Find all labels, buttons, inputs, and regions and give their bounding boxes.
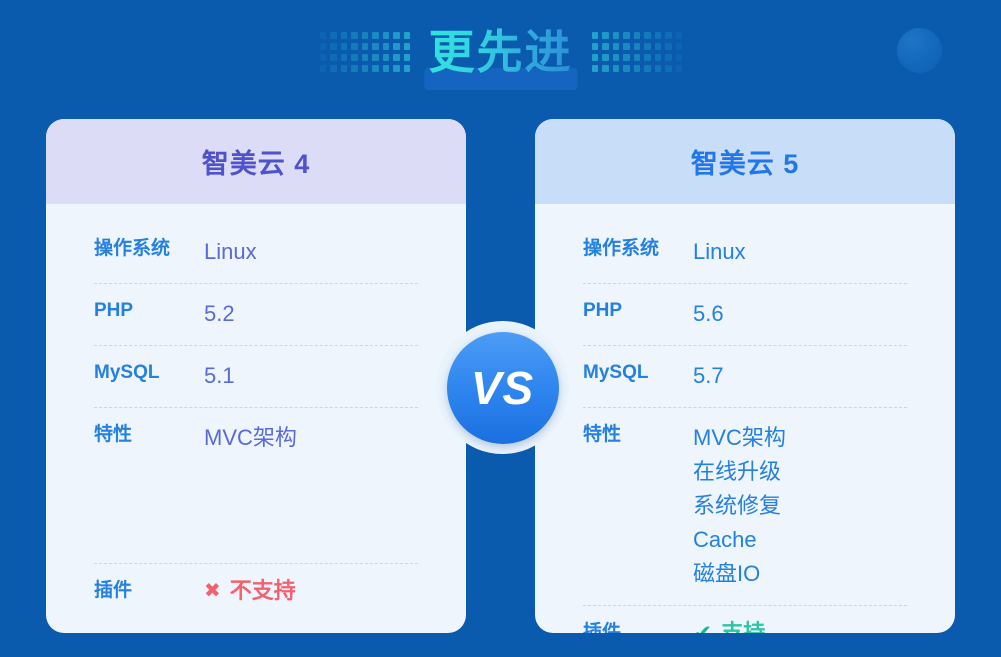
- table-row: 操作系统 Linux: [94, 222, 418, 284]
- table-row: PHP 5.6: [583, 284, 907, 346]
- row-label: 插件: [94, 577, 204, 604]
- table-row: PHP 5.2: [94, 284, 418, 346]
- row-label: MySQL: [94, 359, 204, 386]
- vs-label: VS: [471, 361, 534, 415]
- row-value: 5.1: [204, 359, 235, 393]
- row-value: Linux: [693, 235, 746, 269]
- vs-badge-circle: VS: [447, 332, 559, 444]
- status-text: 支持: [721, 619, 765, 633]
- card-left-title: 智美云 4: [46, 119, 466, 204]
- table-row: 特性 MVC架构: [94, 408, 418, 469]
- table-row-plugin: 插件 ✔ 支持: [583, 605, 907, 633]
- row-label: 操作系统: [94, 235, 204, 262]
- row-label: MySQL: [583, 359, 693, 386]
- row-value: Linux: [204, 235, 257, 269]
- table-row: MySQL 5.1: [94, 346, 418, 408]
- card-right-body: 操作系统 Linux PHP 5.6 MySQL 5.7 特性 MVC架构 在线…: [535, 204, 955, 633]
- row-value: 5.2: [204, 297, 235, 331]
- comparison-card-left: 智美云 4 操作系统 Linux PHP 5.2 MySQL 5.1 特性 MV…: [46, 119, 466, 633]
- row-value: 5.6: [693, 297, 724, 331]
- row-value: MVC架构: [204, 421, 297, 455]
- row-label: 操作系统: [583, 235, 693, 262]
- status-badge: ✔ 支持: [693, 619, 765, 633]
- row-label: 特性: [583, 421, 693, 448]
- page-title: 更先进: [0, 16, 1001, 82]
- card-right-title: 智美云 5: [535, 119, 955, 204]
- table-row: MySQL 5.7: [583, 346, 907, 408]
- table-row-plugin: 插件 ✖ 不支持: [94, 563, 418, 633]
- table-row: 特性 MVC架构 在线升级 系统修复 Cache 磁盘IO: [583, 408, 907, 605]
- row-label: PHP: [94, 297, 204, 324]
- row-label: 插件: [583, 619, 693, 633]
- table-row: 操作系统 Linux: [583, 222, 907, 284]
- header: 更先进: [0, 0, 1001, 100]
- card-left-body: 操作系统 Linux PHP 5.2 MySQL 5.1 特性 MVC架构 插件…: [46, 204, 466, 633]
- status-badge: ✖ 不支持: [204, 577, 296, 605]
- spacer: [94, 469, 418, 563]
- row-value: 5.7: [693, 359, 724, 393]
- cross-icon: ✖: [204, 581, 221, 601]
- check-icon: ✔: [693, 622, 712, 634]
- row-label: PHP: [583, 297, 693, 324]
- row-label: 特性: [94, 421, 204, 448]
- status-text: 不支持: [230, 577, 296, 605]
- page-title-text: 更先进: [429, 16, 573, 82]
- row-value: MVC架构 在线升级 系统修复 Cache 磁盘IO: [693, 421, 786, 591]
- vs-badge: VS: [436, 321, 569, 454]
- comparison-card-right: 智美云 5 操作系统 Linux PHP 5.6 MySQL 5.7 特性 MV…: [535, 119, 955, 633]
